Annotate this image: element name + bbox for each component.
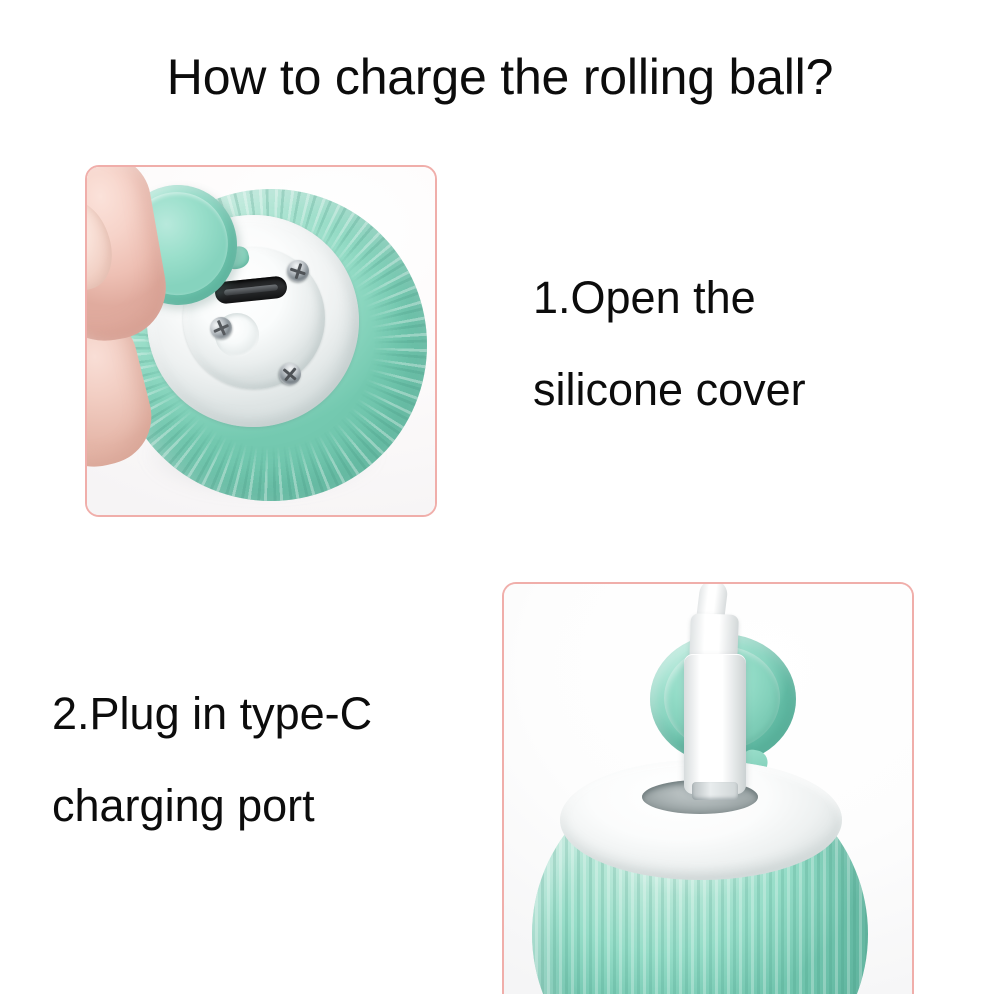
step-1-photo-frame bbox=[85, 165, 437, 517]
step-2-photo-frame bbox=[502, 582, 914, 994]
page-title: How to charge the rolling ball? bbox=[0, 46, 1000, 108]
step-2-line-1: 2.Plug in type-C bbox=[52, 668, 372, 760]
step-1-photo bbox=[87, 167, 435, 515]
thumbnail-icon bbox=[85, 192, 121, 298]
usb-c-plug-tip-icon bbox=[692, 782, 738, 800]
step-1-line-2: silicone cover bbox=[533, 344, 806, 436]
step-1-line-1: 1.Open the bbox=[533, 252, 806, 344]
step-2-line-2: charging port bbox=[52, 760, 372, 852]
instruction-infographic: How to charge the rolling ball? bbox=[0, 0, 1000, 1000]
step-2-caption: 2.Plug in type-C charging port bbox=[52, 668, 372, 852]
step-1-caption: 1.Open the silicone cover bbox=[533, 252, 806, 436]
step-2-photo bbox=[504, 584, 912, 994]
usb-c-plug-icon bbox=[684, 654, 746, 794]
